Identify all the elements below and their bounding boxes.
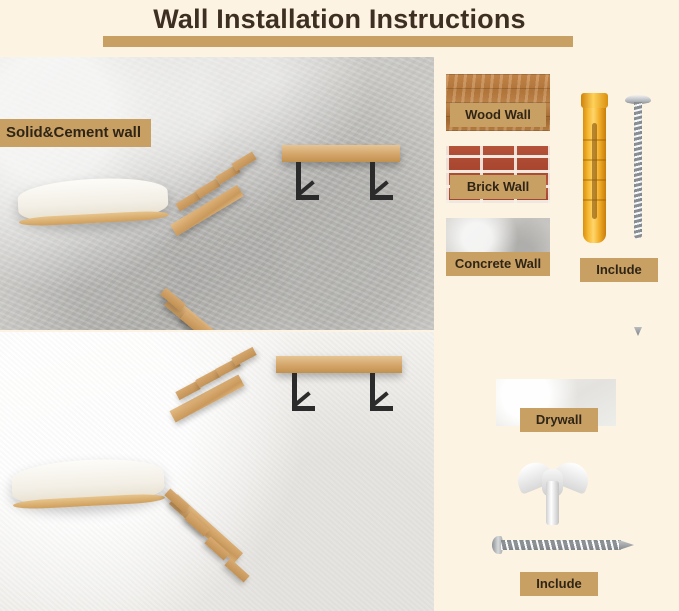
page-header: Wall Installation Instructions	[0, 0, 679, 54]
solid-cement-wall-photo: Solid&Cement wall	[0, 57, 434, 330]
include-caption-bottom: Include	[520, 572, 598, 596]
drywall-swatch-caption: Drywall	[520, 408, 598, 432]
wood-screw-horizontal	[492, 536, 634, 554]
toggle-bolt-anchor	[516, 463, 590, 525]
wood-wall-caption: Wood Wall	[450, 103, 546, 127]
page-title: Wall Installation Instructions	[0, 4, 679, 35]
title-underline-bar	[103, 36, 573, 47]
include-caption-top: Include	[580, 258, 658, 282]
plastic-wall-anchor	[583, 93, 606, 243]
panel-divider	[0, 330, 434, 332]
installation-instructions-page: Wall Installation Instructions	[0, 0, 679, 611]
concrete-wall-caption: Concrete Wall	[446, 252, 550, 276]
solid-wall-label: Solid&Cement wall	[0, 119, 151, 147]
column-divider	[434, 57, 436, 611]
brick-wall-caption: Brick Wall	[450, 175, 546, 199]
drywall-photo: Drywall	[0, 332, 434, 611]
